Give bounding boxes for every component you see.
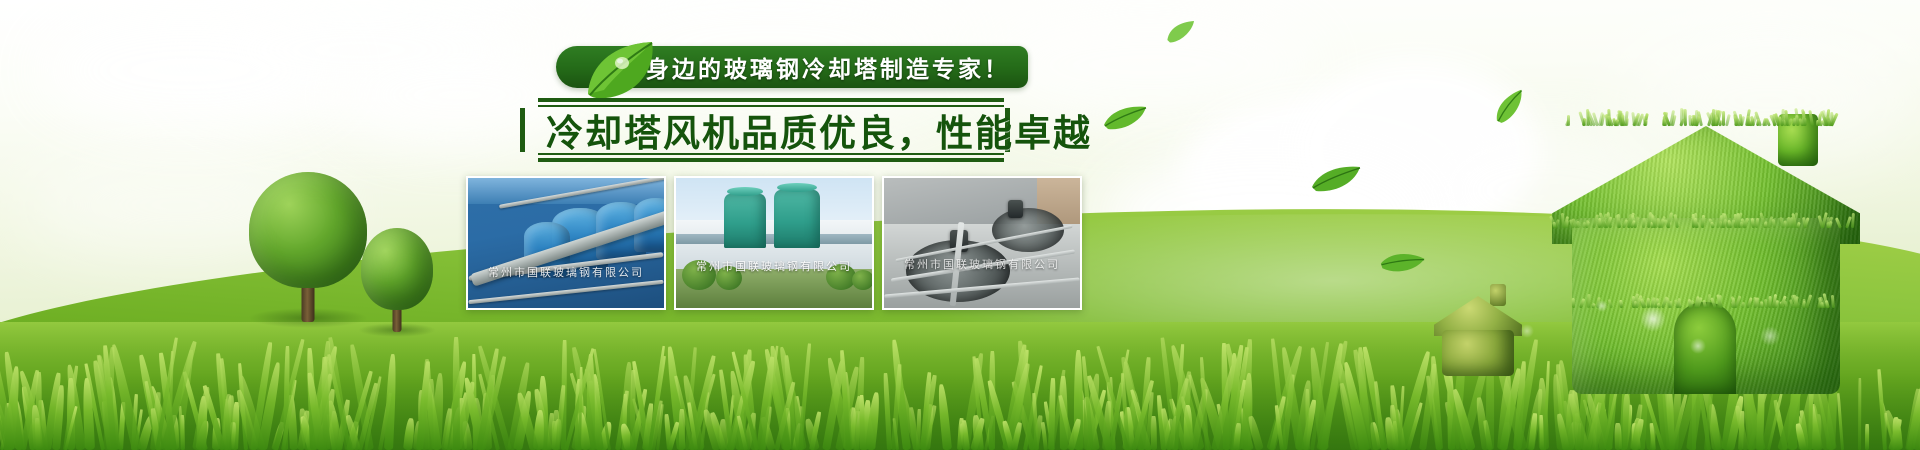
floating-leaf-icon [1162, 19, 1199, 46]
headline-rule-top [538, 98, 1004, 102]
headline-rule-bottom-thin [538, 153, 1004, 155]
headline-bar-left [520, 108, 525, 152]
small-tree [360, 228, 434, 332]
tagline-pill: 您身边的玻璃钢冷却塔制造专家！ [556, 46, 1028, 88]
large-tree [248, 172, 368, 322]
floating-leaf-icon [1102, 105, 1148, 131]
blue-frp-tanks-photo[interactable]: 常州市国联玻璃钢有限公司 [466, 176, 666, 310]
tagline-text: 您身边的玻璃钢冷却塔制造专家！ [620, 50, 1010, 84]
floating-leaf-icon [1487, 87, 1534, 127]
headline-text: 冷却塔风机品质优良，性能卓越 [546, 103, 988, 157]
grass-mini-house [1432, 296, 1524, 376]
product-photo-strip: 常州市国联玻璃钢有限公司 常州市国联玻璃钢有限公司 [466, 176, 1082, 310]
grass-house-topiary [1546, 126, 1876, 394]
cooling-tower-plant-photo[interactable]: 常州市国联玻璃钢有限公司 [674, 176, 874, 310]
floating-leaf-icon [1310, 165, 1362, 193]
cooling-tower-fans-photo[interactable]: 常州市国联玻璃钢有限公司 [882, 176, 1082, 310]
eco-product-banner: 您身边的玻璃钢冷却塔制造专家！ 冷却塔风机品质优良，性能卓越 常州市国联玻璃钢 [0, 0, 1920, 450]
headline-rule-bottom [538, 158, 1004, 162]
headline-block: 冷却塔风机品质优良，性能卓越 [520, 98, 1010, 162]
